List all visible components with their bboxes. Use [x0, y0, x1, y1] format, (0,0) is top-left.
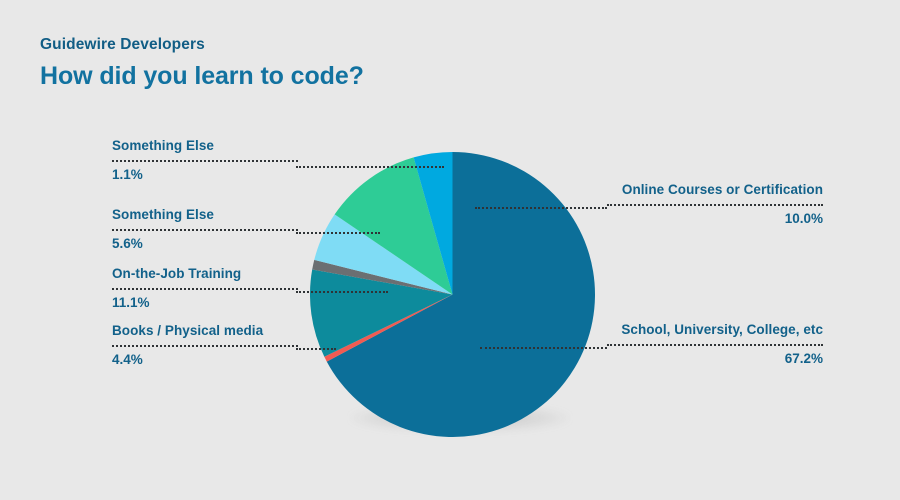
callout-value: 4.4% [112, 351, 298, 369]
pie-svg [310, 152, 595, 437]
callout-school-university: School, University, College, etc 67.2% [607, 321, 823, 368]
callout-label: Online Courses or Certification [607, 181, 823, 199]
page-title: How did you learn to code? [40, 62, 364, 91]
eyebrow-text: Guidewire Developers [40, 36, 205, 54]
callout-rule [112, 160, 298, 162]
callout-value: 67.2% [607, 350, 823, 368]
leader-line-online-courses [475, 207, 607, 209]
callout-label: Books / Physical media [112, 322, 298, 340]
leader-line-something-else-2 [296, 232, 380, 234]
pie-chart [310, 152, 595, 437]
leader-line-books-physical-media [296, 348, 336, 350]
leader-line-something-else-1 [296, 166, 444, 168]
callout-rule [607, 204, 823, 206]
infographic-canvas: Guidewire Developers How did you learn t… [0, 0, 900, 500]
callout-on-the-job-training: On-the-Job Training 11.1% [112, 265, 298, 312]
callout-label: Something Else [112, 206, 298, 224]
callout-value: 10.0% [607, 210, 823, 228]
leader-line-on-the-job-training [296, 291, 388, 293]
callout-value: 11.1% [112, 294, 298, 312]
callout-value: 1.1% [112, 166, 298, 184]
callout-rule [112, 229, 298, 231]
leader-line-school-university [480, 347, 607, 349]
callout-online-courses: Online Courses or Certification 10.0% [607, 181, 823, 228]
callout-value: 5.6% [112, 235, 298, 253]
callout-rule [607, 344, 823, 346]
callout-something-else-2: Something Else 5.6% [112, 206, 298, 253]
callout-label: School, University, College, etc [607, 321, 823, 339]
callout-rule [112, 345, 298, 347]
callout-label: Something Else [112, 137, 298, 155]
callout-books-physical-media: Books / Physical media 4.4% [112, 322, 298, 369]
callout-rule [112, 288, 298, 290]
callout-label: On-the-Job Training [112, 265, 298, 283]
pie-slice-group [310, 152, 595, 437]
callout-something-else-1: Something Else 1.1% [112, 137, 298, 184]
